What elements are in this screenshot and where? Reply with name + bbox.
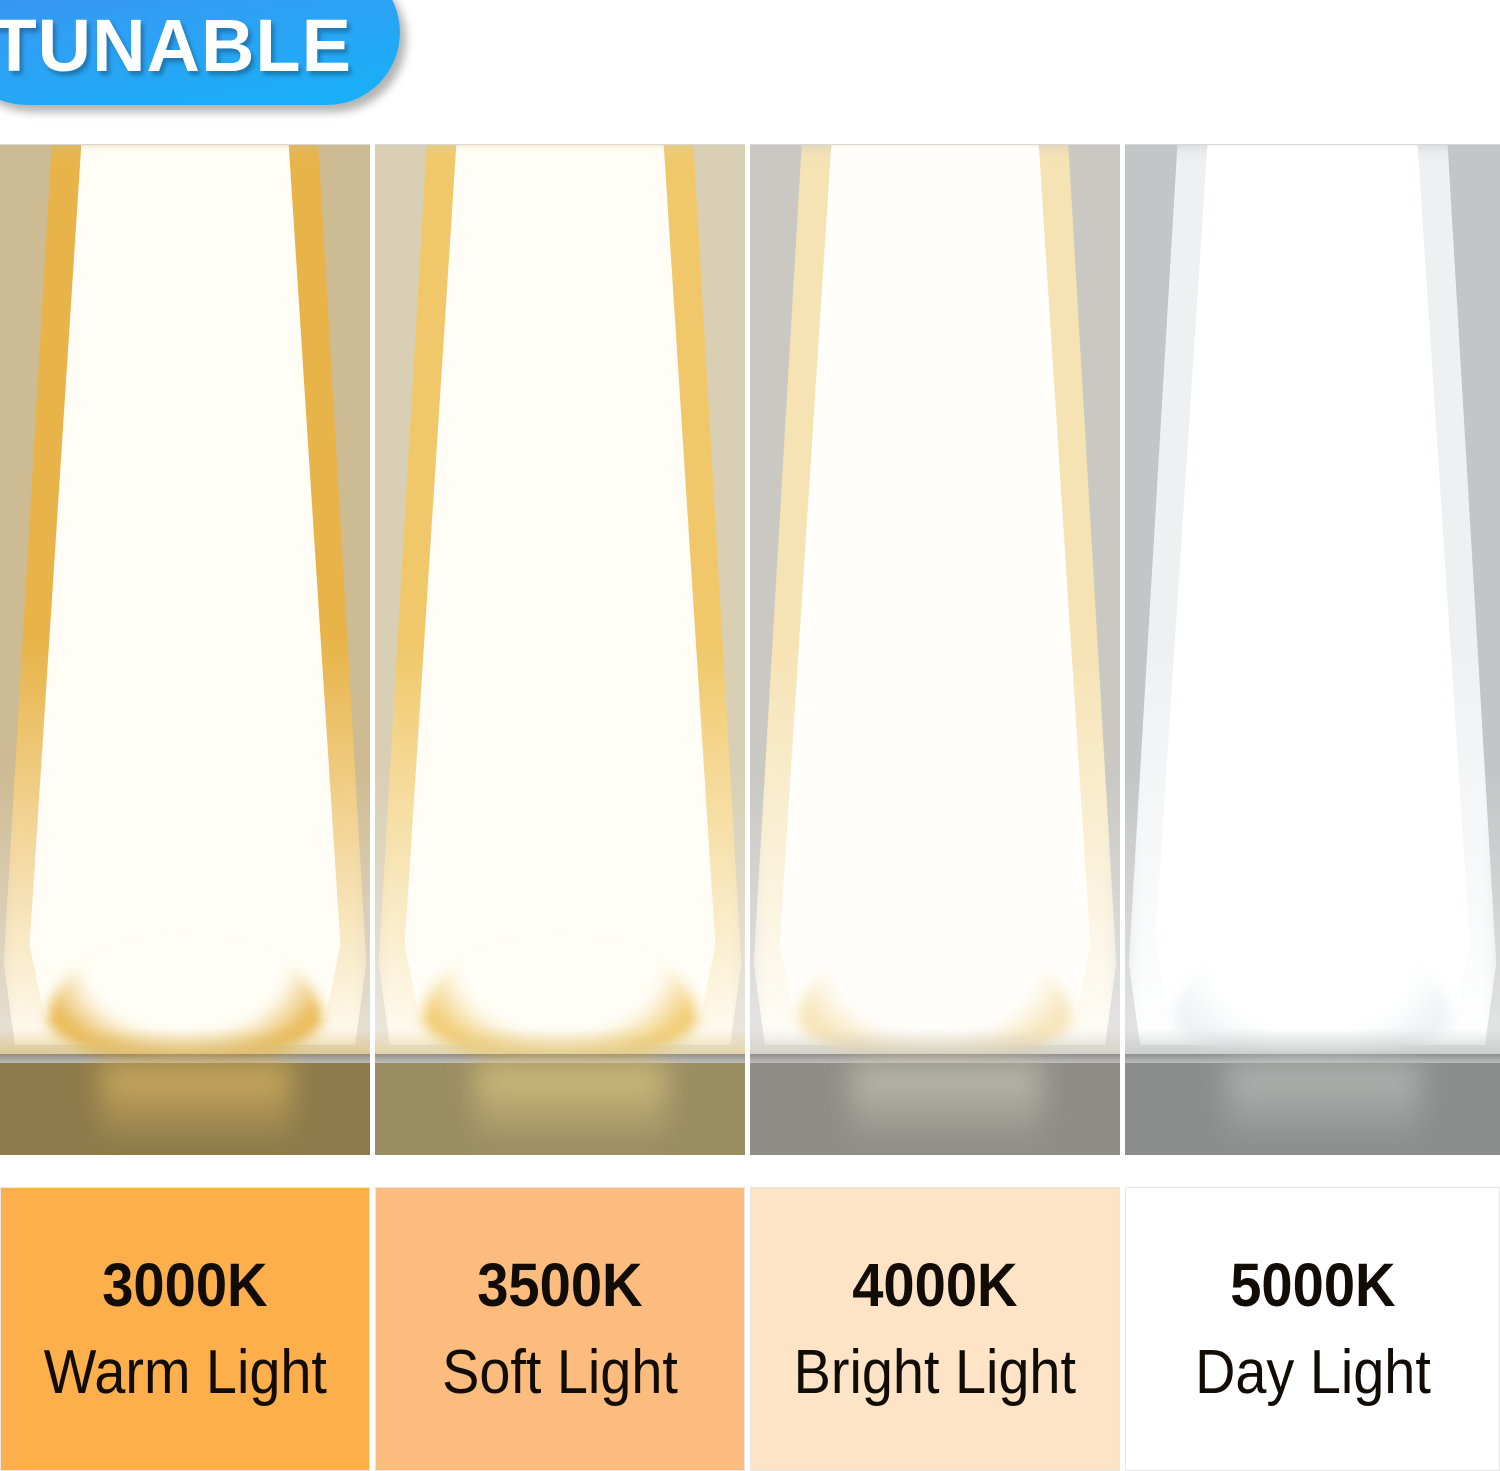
legend-swatch-5000k: 5000K Day Light [1125, 1187, 1500, 1471]
kelvin-value: 5000K [1230, 1255, 1395, 1316]
light-beam [375, 144, 745, 1054]
wall-floor-corner [0, 1028, 370, 1054]
mood-label: Day Light [1195, 1342, 1431, 1404]
wall-floor-corner [1125, 1028, 1500, 1054]
photo-panel-3000k [0, 144, 370, 1155]
tunable-badge: TUNABLE [0, 0, 400, 105]
floor-reflection [475, 1063, 667, 1155]
light-beam [750, 144, 1120, 1054]
skirting-edge [750, 1054, 1120, 1063]
mood-label: Soft Light [442, 1342, 678, 1404]
photo-panel-5000k [1125, 144, 1500, 1155]
kelvin-value: 3000K [102, 1255, 267, 1316]
kelvin-value: 3500K [477, 1255, 642, 1316]
wall-floor-corner [750, 1028, 1120, 1054]
photo-panel-4000k [750, 144, 1120, 1155]
tunable-badge-pill: TUNABLE [0, 0, 400, 105]
skirting-edge [0, 1054, 370, 1063]
mood-label: Warm Light [43, 1342, 326, 1404]
tunable-badge-label: TUNABLE [0, 3, 352, 88]
legend-swatch-3500k: 3500K Soft Light [375, 1187, 745, 1471]
color-temperature-photo-strip [0, 144, 1500, 1155]
floor-reflection [1226, 1063, 1421, 1155]
wall-floor-corner [375, 1028, 745, 1054]
skirting-edge [375, 1054, 745, 1063]
light-beam [1125, 144, 1500, 1054]
mood-label: Bright Light [794, 1342, 1076, 1404]
color-temperature-legend: 3000K Warm Light 3500K Soft Light 4000K … [0, 1187, 1500, 1471]
floor-reflection [850, 1063, 1042, 1155]
photo-panel-3500k [375, 144, 745, 1155]
legend-swatch-3000k: 3000K Warm Light [0, 1187, 370, 1471]
kelvin-value: 4000K [852, 1255, 1017, 1316]
legend-swatch-4000k: 4000K Bright Light [750, 1187, 1120, 1471]
floor-reflection [100, 1063, 292, 1155]
skirting-edge [1125, 1054, 1500, 1063]
light-beam [0, 144, 370, 1054]
